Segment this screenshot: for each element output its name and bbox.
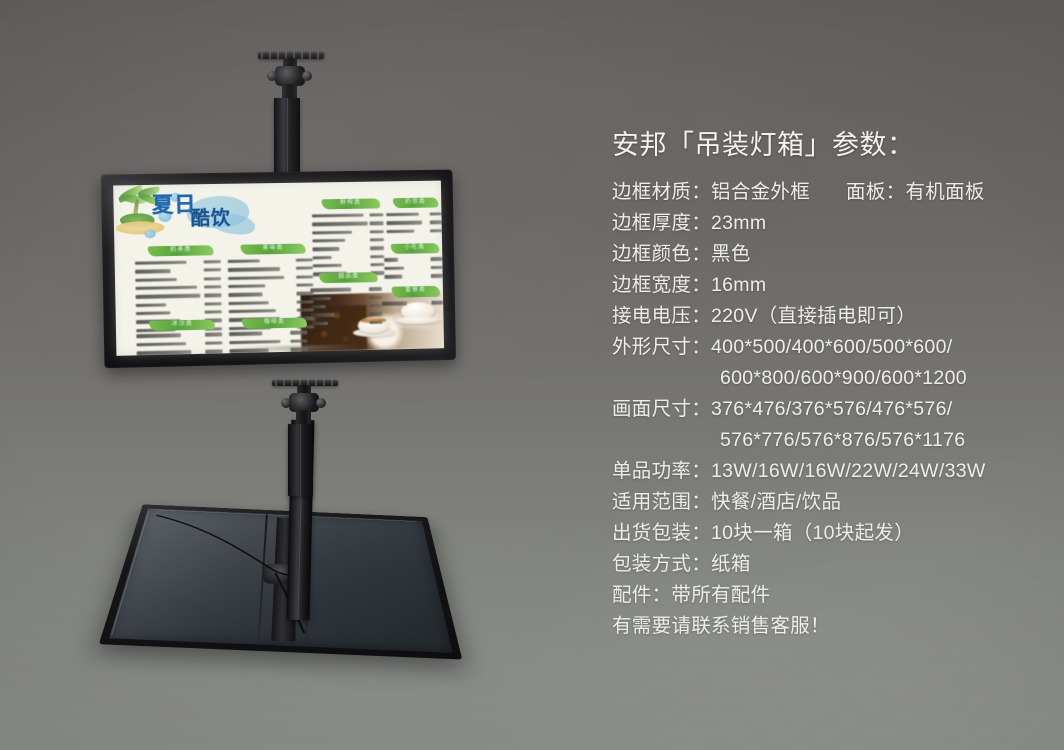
spec-value-frame-width: 16mm bbox=[711, 274, 766, 296]
spec-row-outer-size-cont: 600*800/600*900/600*1200 bbox=[612, 363, 1052, 394]
spec-key-frame-material: 边框材质： bbox=[612, 177, 711, 208]
menu-section-title-2: 果味类 bbox=[240, 243, 306, 254]
menu-section-header-5: 鲜榨类 bbox=[321, 198, 380, 209]
spec-row-power: 单品功率：13W/16W/16W/22W/24W/33W bbox=[612, 456, 1052, 487]
menu-item-row bbox=[384, 256, 442, 263]
menu-section-title-5: 鲜榨类 bbox=[321, 198, 380, 209]
spec-row-graphic-size-cont: 576*776/576*876/576*1176 bbox=[612, 425, 1052, 456]
menu-item-row bbox=[312, 220, 384, 227]
lit-menu-lightbox: 夏日 酷饮 奶茶类 bbox=[101, 170, 456, 369]
menu-item-column-8 bbox=[310, 286, 382, 329]
menu-item-column-3 bbox=[136, 331, 223, 356]
menu-item-row bbox=[384, 273, 442, 280]
menu-section-header-9: 套餐类 bbox=[391, 286, 440, 297]
spec-key-frame-width: 边框宽度： bbox=[612, 274, 711, 296]
menu-hero-artwork: 夏日 酷饮 bbox=[113, 183, 305, 245]
menu-item-row bbox=[229, 329, 308, 337]
menu-item-row bbox=[135, 258, 221, 266]
lightbox-aluminium-bezel: 夏日 酷饮 奶茶类 bbox=[101, 170, 456, 369]
spec-key-shipping-pack: 出货包装： bbox=[612, 522, 711, 544]
spec-value-graphic-size-line2: 576*776/576*876/576*1176 bbox=[720, 429, 965, 451]
mount-pole-seam-top bbox=[287, 98, 288, 180]
menu-item-row bbox=[313, 262, 385, 270]
menu-item-row bbox=[135, 300, 221, 308]
menu-section-header-4: 咖啡类 bbox=[242, 318, 308, 330]
spec-key-face-panel: 面板： bbox=[846, 177, 905, 208]
menu-item-row bbox=[384, 264, 442, 271]
menu-item-row bbox=[312, 237, 384, 244]
mount-adjust-knob-bottom-right bbox=[316, 398, 326, 408]
spec-key-accessories: 配件： bbox=[612, 584, 671, 606]
ceiling-mount-top bbox=[236, 46, 356, 178]
menu-section-header-8: 甜品类 bbox=[319, 272, 378, 283]
menu-item-row bbox=[228, 290, 313, 298]
spec-row-shipping-pack: 出货包装：10块一箱（10块起发） bbox=[612, 518, 1052, 549]
menu-item-row bbox=[227, 265, 312, 273]
menu-item-row bbox=[228, 282, 313, 290]
water-droplet-shape-3 bbox=[144, 229, 155, 238]
spec-key-power: 单品功率： bbox=[612, 460, 711, 482]
spec-value-face-panel: 有机面板 bbox=[905, 177, 984, 208]
menu-hero-title-line2: 酷饮 bbox=[191, 209, 232, 229]
product-photo-scene: 夏日 酷饮 奶茶类 bbox=[0, 0, 1064, 750]
spec-row-outer-size: 外形尺寸：400*500/400*600/500*600/ bbox=[612, 332, 1052, 363]
menu-item-row bbox=[228, 299, 313, 307]
unlit-lightbox-frame bbox=[99, 504, 462, 659]
specification-panel: 安邦「吊装灯箱」参数： 边框材质： 铝合金外框 面板： 有机面板 边框厚度：23… bbox=[612, 125, 1052, 642]
spec-value-frame-material: 铝合金外框 bbox=[711, 177, 810, 208]
menu-item-row bbox=[135, 267, 221, 275]
menu-section-title-7: 小吃类 bbox=[390, 243, 439, 254]
spec-row-accessories: 配件：带所有配件 bbox=[612, 580, 1052, 611]
menu-item-column-6 bbox=[386, 211, 441, 237]
spec-contact-note-text: 有需要请联系销售客服！ bbox=[612, 615, 830, 637]
menu-item-row bbox=[382, 300, 444, 307]
menu-item-row bbox=[387, 219, 442, 226]
mount-pole-top bbox=[274, 98, 300, 180]
menu-section-title-1: 奶茶类 bbox=[148, 245, 214, 256]
coffee-saucer-shape-back bbox=[395, 315, 441, 324]
menu-item-row bbox=[387, 227, 442, 234]
menu-item-row bbox=[135, 284, 221, 292]
mount-swivel-joint-top bbox=[275, 66, 305, 86]
spec-key-application: 适用范围： bbox=[612, 491, 711, 513]
spec-row-frame-color: 边框颜色：黑色 bbox=[612, 239, 1052, 270]
menu-section-header-7: 小吃类 bbox=[390, 243, 439, 254]
menu-section-title-8: 甜品类 bbox=[319, 272, 378, 283]
menu-item-row bbox=[312, 245, 384, 252]
spec-key-frame-thickness: 边框厚度： bbox=[612, 212, 711, 234]
menu-item-row bbox=[136, 309, 222, 317]
menu-section-header-2: 果味类 bbox=[240, 243, 306, 254]
spec-panel-title: 安邦「吊装灯箱」参数： bbox=[612, 125, 1052, 165]
sand-island-shape bbox=[116, 221, 165, 235]
spec-value-frame-thickness: 23mm bbox=[711, 212, 766, 234]
menu-display-surface: 夏日 酷饮 奶茶类 bbox=[113, 181, 444, 356]
menu-item-row bbox=[136, 331, 222, 339]
spec-value-voltage: 220V（直接插电即可） bbox=[711, 305, 916, 327]
spec-key-packaging: 包装方式： bbox=[612, 553, 711, 575]
spec-key-outer-size: 外形尺寸： bbox=[612, 336, 711, 358]
spec-value-power: 13W/16W/16W/22W/24W/33W bbox=[711, 460, 986, 482]
ceiling-mount-bottom bbox=[252, 374, 372, 504]
spec-row-contact-note: 有需要请联系销售客服！ bbox=[612, 611, 1052, 642]
menu-item-column-4 bbox=[229, 329, 309, 355]
menu-item-row bbox=[136, 340, 222, 348]
spec-value-frame-color: 黑色 bbox=[711, 243, 751, 265]
spec-row-voltage: 接电电压：220V（直接插电即可） bbox=[612, 301, 1052, 332]
menu-item-row bbox=[228, 307, 313, 315]
spec-key-graphic-size: 画面尺寸： bbox=[612, 398, 711, 420]
menu-section-header-1: 奶茶类 bbox=[148, 245, 214, 256]
menu-item-column-5 bbox=[312, 212, 385, 280]
spec-row-graphic-size: 画面尺寸：376*476/376*576/476*576/ bbox=[612, 394, 1052, 425]
menu-item-row bbox=[136, 348, 222, 356]
menu-item-row bbox=[229, 346, 308, 354]
spec-row-frame-material: 边框材质： 铝合金外框 面板： 有机面板 bbox=[612, 177, 1052, 208]
menu-item-row bbox=[310, 294, 382, 302]
menu-item-row bbox=[135, 292, 221, 300]
menu-item-row bbox=[312, 228, 384, 235]
menu-section-title-6: 奶昔类 bbox=[393, 197, 438, 208]
menu-item-row bbox=[312, 212, 384, 219]
menu-item-row bbox=[229, 338, 308, 346]
spec-value-accessories: 带所有配件 bbox=[671, 584, 770, 606]
spec-row-packaging: 包装方式：纸箱 bbox=[612, 549, 1052, 580]
mount-adjust-knob-top-right bbox=[302, 71, 312, 81]
mount-pole-seam-bottom bbox=[300, 424, 301, 496]
spec-key-voltage: 接电电压： bbox=[612, 305, 711, 327]
spec-value-outer-size-line2: 600*800/600*900/600*1200 bbox=[720, 367, 967, 389]
menu-item-row bbox=[227, 257, 312, 265]
menu-item-column-9 bbox=[382, 300, 444, 310]
mount-adjust-knob-bottom-left bbox=[281, 398, 291, 408]
menu-item-row bbox=[135, 275, 221, 283]
unlit-lightbox-rear bbox=[99, 504, 462, 659]
menu-section-title-9: 套餐类 bbox=[391, 286, 440, 297]
menu-section-header-3: 冰沙类 bbox=[149, 320, 215, 332]
menu-section-title-3: 冰沙类 bbox=[149, 320, 215, 332]
spec-value-application: 快餐/酒店/饮品 bbox=[711, 491, 841, 513]
menu-item-row bbox=[386, 211, 441, 218]
menu-item-row bbox=[310, 319, 382, 327]
unlit-panel-edge-highlight-left bbox=[111, 511, 149, 635]
spec-value-shipping-pack: 10块一箱（10块起发） bbox=[711, 522, 914, 544]
menu-item-row bbox=[312, 253, 384, 261]
spec-value-outer-size-line1: 400*500/400*600/500*600/ bbox=[711, 336, 952, 358]
mount-adjust-knob-top-left bbox=[267, 71, 277, 81]
menu-item-row bbox=[310, 286, 382, 294]
spec-row-frame-width: 边框宽度：16mm bbox=[612, 270, 1052, 301]
spec-value-packaging: 纸箱 bbox=[711, 553, 751, 575]
spec-key-frame-color: 边框颜色： bbox=[612, 243, 711, 265]
menu-item-row bbox=[229, 355, 308, 356]
menu-section-title-4: 咖啡类 bbox=[242, 318, 308, 330]
menu-item-row bbox=[310, 302, 382, 310]
spec-row-application: 适用范围：快餐/酒店/饮品 bbox=[612, 487, 1052, 518]
menu-item-row bbox=[310, 311, 382, 319]
mount-pole-bottom bbox=[288, 424, 313, 496]
menu-item-row bbox=[228, 273, 313, 281]
spec-value-graphic-size-line1: 376*476/376*576/476*576/ bbox=[711, 398, 952, 420]
menu-section-header-6: 奶昔类 bbox=[393, 197, 438, 208]
spec-row-frame-thickness: 边框厚度：23mm bbox=[612, 208, 1052, 239]
menu-item-column-7 bbox=[384, 256, 443, 282]
